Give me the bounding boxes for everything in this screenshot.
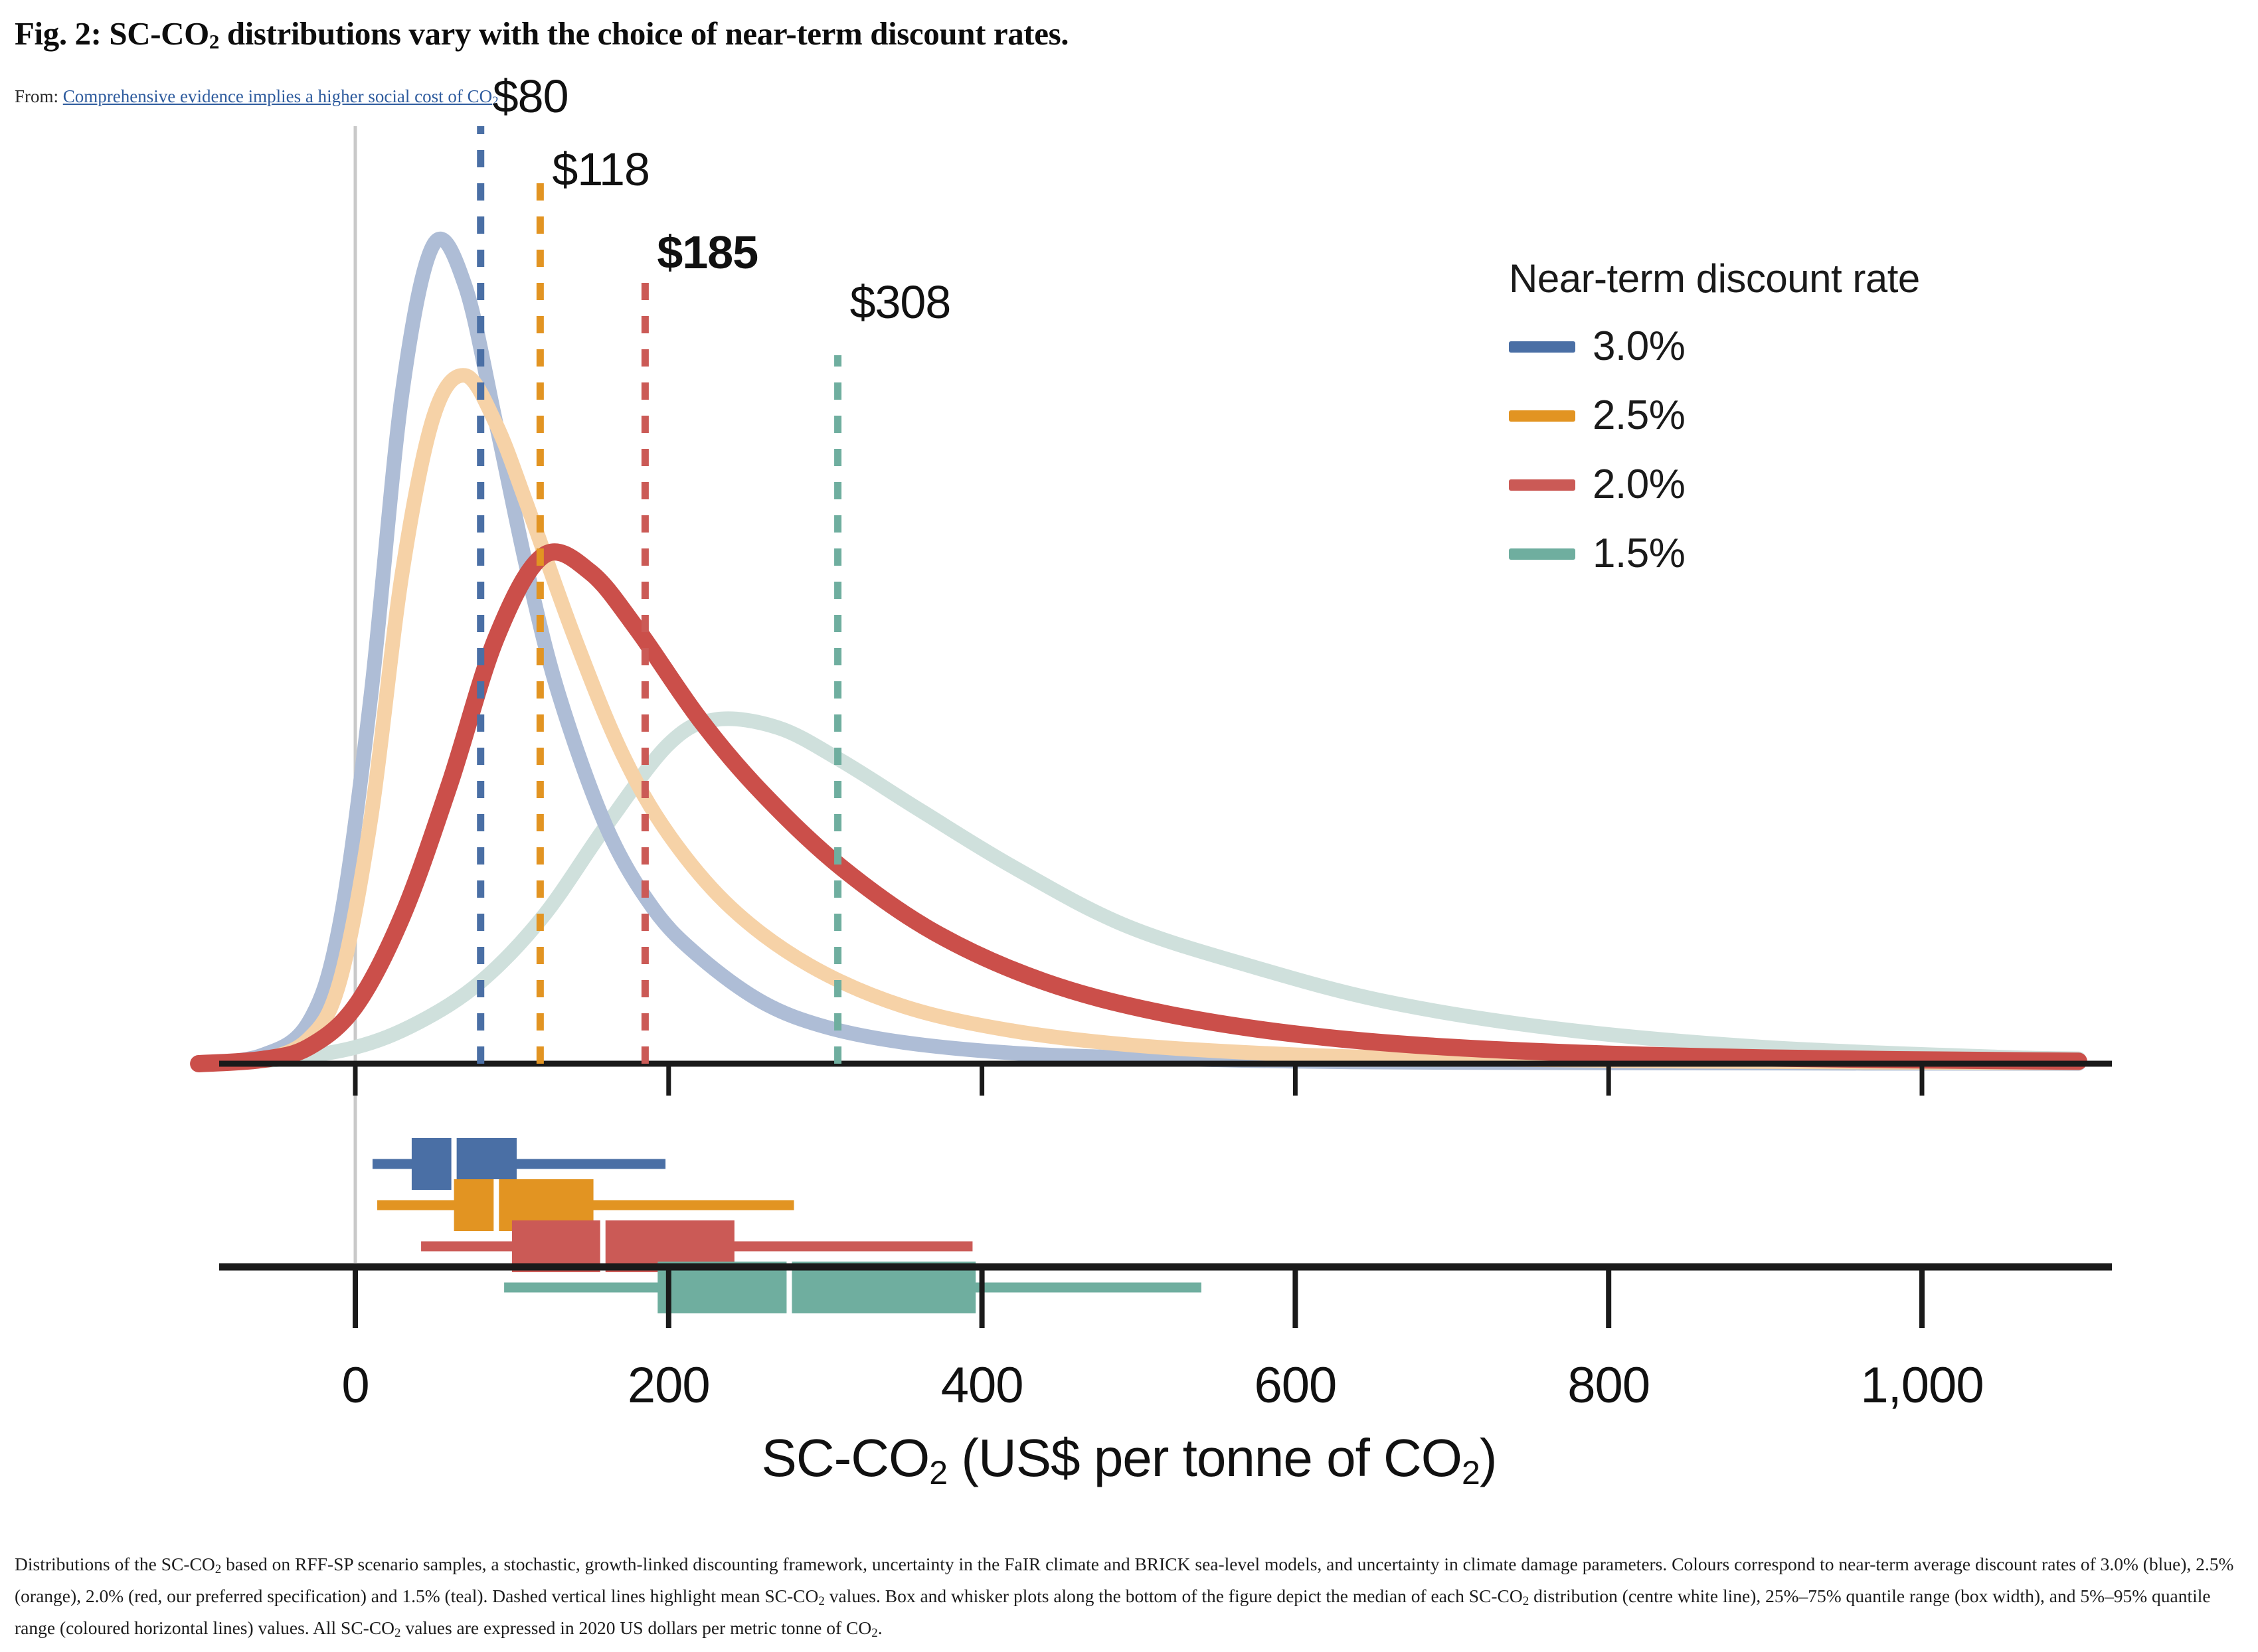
legend: Near-term discount rate 3.0% 2.5% 2.0% 1…	[1509, 256, 2213, 588]
legend-title: Near-term discount rate	[1509, 256, 2213, 301]
legend-label-2-0: 2.0%	[1593, 464, 1685, 505]
x-axis-title-prefix: SC-CO	[762, 1428, 930, 1487]
page-title: Fig. 2: SC-CO2 distributions vary with t…	[15, 15, 2233, 54]
x-axis-title-sub1: 2	[929, 1454, 947, 1491]
page-title-subscript: 2	[209, 30, 219, 53]
mean-value-label-185: $185	[657, 226, 758, 279]
caption-sub-3: 2	[1523, 1594, 1529, 1608]
x-tick-label-1000: 1,000	[1860, 1357, 1983, 1414]
legend-label-1-5: 1.5%	[1593, 533, 1685, 574]
x-axis-title-mid: (US$ per tonne of CO	[947, 1428, 1462, 1487]
legend-label-2-5: 2.5%	[1593, 395, 1685, 436]
page-title-rest: distributions vary with the choice of ne…	[219, 15, 1069, 52]
caption-sub-1: 2	[215, 1562, 222, 1576]
caption-part-6: .	[878, 1617, 883, 1638]
x-tick-label-400: 400	[941, 1357, 1023, 1414]
legend-swatch-1-5	[1509, 548, 1575, 560]
source-link[interactable]: Comprehensive evidence implies a higher …	[63, 86, 499, 106]
source-line: From: Comprehensive evidence implies a h…	[15, 86, 499, 109]
legend-item-2-5[interactable]: 2.5%	[1509, 381, 2213, 450]
legend-item-3-0[interactable]: 3.0%	[1509, 312, 2213, 381]
caption-sub-2: 2	[818, 1594, 825, 1608]
caption-sub-4: 2	[394, 1626, 401, 1640]
x-tick-label-600: 600	[1254, 1357, 1336, 1414]
mean-value-label-80: $80	[493, 70, 568, 123]
mean-value-label-118: $118	[552, 143, 650, 196]
x-axis-title: SC-CO2 (US$ per tonne of CO2)	[0, 1428, 2258, 1492]
legend-item-1-5[interactable]: 1.5%	[1509, 519, 2213, 588]
source-prefix: From:	[15, 86, 63, 106]
legend-swatch-2-0	[1509, 479, 1575, 491]
legend-swatch-3-0	[1509, 341, 1575, 353]
legend-item-2-0[interactable]: 2.0%	[1509, 450, 2213, 519]
x-axis-title-sub2: 2	[1462, 1454, 1480, 1491]
caption-part-3: values. Box and whisker plots along the …	[825, 1586, 1523, 1606]
caption-sub-5: 2	[871, 1626, 878, 1640]
mean-value-label-308: $308	[850, 276, 951, 329]
legend-swatch-2-5	[1509, 410, 1575, 422]
x-tick-label-0: 0	[341, 1357, 369, 1414]
figure-caption: Distributions of the SC-CO2 based on RFF…	[15, 1551, 2243, 1647]
page-title-prefix: Fig. 2: SC-CO	[15, 15, 209, 52]
source-link-text: Comprehensive evidence implies a higher …	[63, 86, 492, 106]
x-axis-title-end: )	[1480, 1428, 1497, 1487]
x-tick-label-800: 800	[1567, 1357, 1650, 1414]
caption-part-5: values are expressed in 2020 US dollars …	[401, 1617, 872, 1638]
legend-label-3-0: 3.0%	[1593, 326, 1685, 367]
caption-part-1: Distributions of the SC-CO	[15, 1554, 215, 1574]
x-tick-label-200: 200	[628, 1357, 710, 1414]
